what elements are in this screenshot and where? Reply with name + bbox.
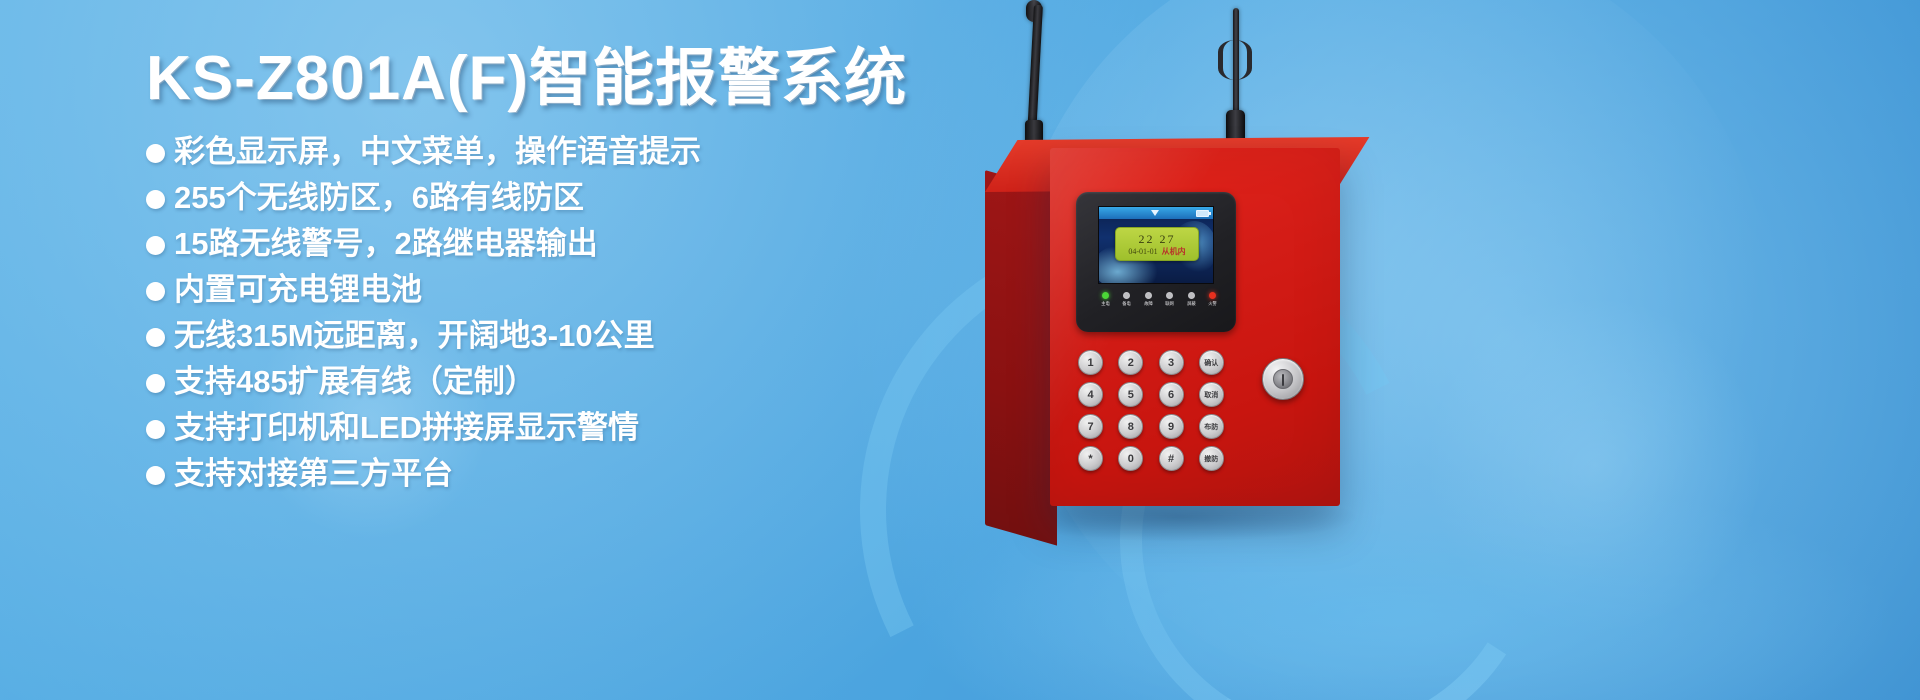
feature-label: 无线315M远距离，开阔地3-10公里 xyxy=(174,320,655,351)
lcd-clock: 22 27 xyxy=(1139,233,1176,245)
list-item: 支持对接第三方平台 xyxy=(146,458,966,489)
bullet-dot-icon xyxy=(146,328,165,347)
battery-icon xyxy=(1196,210,1209,217)
product-title: KS-Z801A(F)智能报警系统 xyxy=(146,48,966,110)
numeric-keypad[interactable]: 1 2 3 确认 4 5 6 取消 7 8 9 布防 * 0 # 撤防 xyxy=(1078,350,1230,471)
keypad-key-3[interactable]: 3 xyxy=(1159,350,1184,375)
list-item: 支持打印机和LED拼接屏显示警情 xyxy=(146,412,966,443)
keypad-key-7[interactable]: 7 xyxy=(1078,414,1103,439)
keypad-key-9[interactable]: 9 xyxy=(1159,414,1184,439)
lcd-screen: 22 27 04-01-01 从机内 xyxy=(1098,206,1214,284)
status-led-label: 屏蔽 xyxy=(1187,302,1196,306)
feature-label: 支持对接第三方平台 xyxy=(174,458,453,489)
feature-list: 彩色显示屏，中文菜单，操作语音提示 255个无线防区，6路有线防区 15路无线警… xyxy=(146,136,966,489)
keypad-key-hash[interactable]: # xyxy=(1159,446,1184,471)
led-indicator-icon xyxy=(1188,292,1195,299)
status-led-bypass: 屏蔽 xyxy=(1182,292,1200,307)
feature-label: 支持打印机和LED拼接屏显示警情 xyxy=(174,412,639,443)
status-led-network: 联网 xyxy=(1161,292,1179,307)
keypad-key-star[interactable]: * xyxy=(1078,446,1103,471)
lock-core xyxy=(1273,369,1293,389)
status-led-label: 故障 xyxy=(1144,302,1153,306)
led-indicator-icon xyxy=(1123,292,1130,299)
lcd-date: 04-01-01 xyxy=(1128,248,1157,256)
bullet-dot-icon xyxy=(146,466,165,485)
list-item: 支持485扩展有线（定制） xyxy=(146,366,966,397)
led-indicator-icon xyxy=(1145,292,1152,299)
feature-label: 255个无线防区，6路有线防区 xyxy=(174,182,584,213)
keypad-key-6[interactable]: 6 xyxy=(1159,382,1184,407)
status-led-label: 主电 xyxy=(1101,302,1110,306)
keypad-key-4[interactable]: 4 xyxy=(1078,382,1103,407)
bullet-dot-icon xyxy=(146,282,165,301)
led-indicator-icon xyxy=(1209,292,1216,299)
signal-icon xyxy=(1151,210,1159,216)
lock-keyhole-icon[interactable] xyxy=(1262,358,1304,400)
led-indicator-icon xyxy=(1102,292,1109,299)
bullet-dot-icon xyxy=(146,420,165,439)
keypad-key-cancel[interactable]: 取消 xyxy=(1199,382,1224,407)
marketing-copy: KS-Z801A(F)智能报警系统 彩色显示屏，中文菜单，操作语音提示 255个… xyxy=(146,48,966,504)
keypad-key-1[interactable]: 1 xyxy=(1078,350,1103,375)
lcd-status-bar xyxy=(1099,207,1213,219)
status-led-label: 火警 xyxy=(1209,302,1218,306)
alarm-panel-device: 22 27 04-01-01 从机内 主电 备电 xyxy=(940,0,1500,700)
keypad-key-5[interactable]: 5 xyxy=(1118,382,1143,407)
list-item: 内置可充电锂电池 xyxy=(146,274,966,305)
bullet-dot-icon xyxy=(146,236,165,255)
keypad-key-8[interactable]: 8 xyxy=(1118,414,1143,439)
feature-label: 内置可充电锂电池 xyxy=(174,274,422,305)
status-led-backup: 备电 xyxy=(1118,292,1136,307)
status-led-fire-alarm: 火警 xyxy=(1204,292,1222,307)
keypad-key-disarm[interactable]: 撤防 xyxy=(1199,446,1224,471)
keypad-key-confirm[interactable]: 确认 xyxy=(1199,350,1224,375)
lcd-info-card: 22 27 04-01-01 从机内 xyxy=(1115,227,1199,261)
led-indicator-icon xyxy=(1166,292,1173,299)
feature-label: 15路无线警号，2路继电器输出 xyxy=(174,228,598,259)
status-led-mains: 主电 xyxy=(1096,292,1114,307)
list-item: 彩色显示屏，中文菜单，操作语音提示 xyxy=(146,136,966,167)
keypad-key-0[interactable]: 0 xyxy=(1118,446,1143,471)
lcd-meta-row: 04-01-01 从机内 xyxy=(1128,248,1185,256)
bullet-dot-icon xyxy=(146,144,165,163)
control-panel-bezel: 22 27 04-01-01 从机内 主电 备电 xyxy=(1076,192,1236,332)
status-led-label: 备电 xyxy=(1122,302,1131,306)
device-side-face xyxy=(985,170,1057,546)
keypad-key-2[interactable]: 2 xyxy=(1118,350,1143,375)
keypad-key-arm[interactable]: 布防 xyxy=(1199,414,1224,439)
product-banner: KS-Z801A(F)智能报警系统 彩色显示屏，中文菜单，操作语音提示 255个… xyxy=(0,0,1920,700)
bullet-dot-icon xyxy=(146,374,165,393)
status-led-label: 联网 xyxy=(1166,302,1175,306)
feature-label: 彩色显示屏，中文菜单，操作语音提示 xyxy=(174,136,701,167)
status-led-row: 主电 备电 故障 联网 屏蔽 xyxy=(1096,292,1222,307)
feature-label: 支持485扩展有线（定制） xyxy=(174,366,536,397)
list-item: 255个无线防区，6路有线防区 xyxy=(146,182,966,213)
list-item: 无线315M远距离，开阔地3-10公里 xyxy=(146,320,966,351)
status-led-fault: 故障 xyxy=(1139,292,1157,307)
list-item: 15路无线警号，2路继电器输出 xyxy=(146,228,966,259)
bullet-dot-icon xyxy=(146,190,165,209)
lcd-mode-label: 从机内 xyxy=(1162,248,1186,256)
